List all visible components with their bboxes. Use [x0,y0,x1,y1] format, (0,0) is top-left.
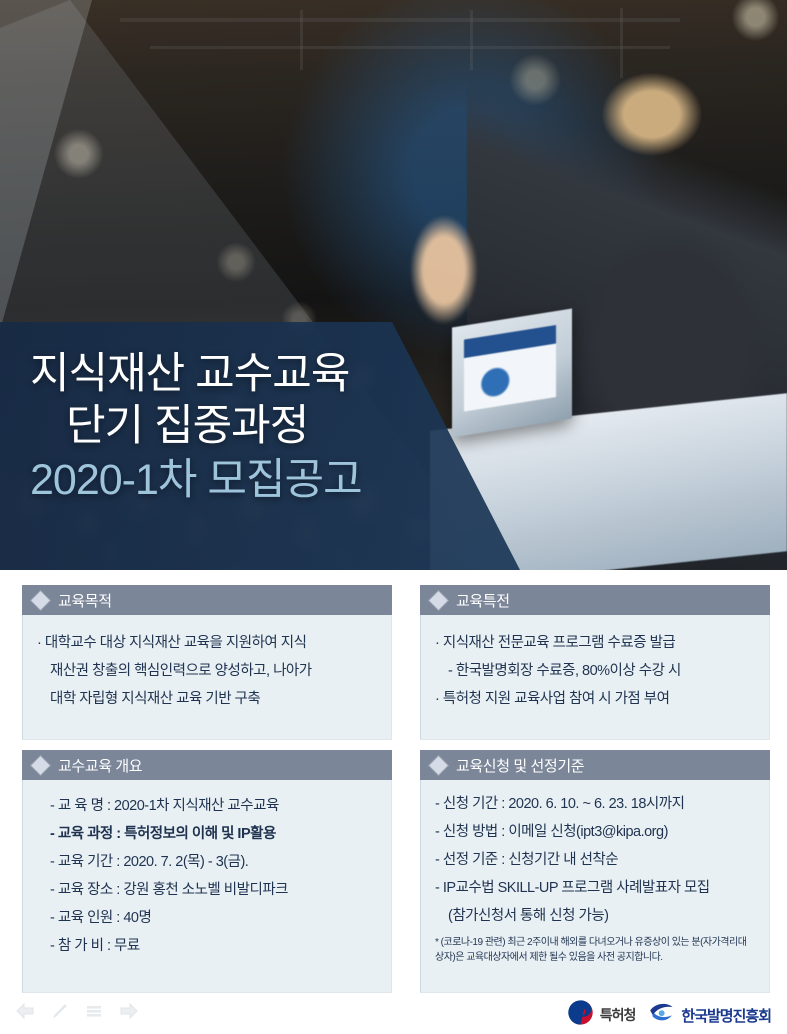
overview-period: - 교육 기간 : 2020. 7. 2(목) - 3(금). [37,850,377,875]
panel-purpose-line-2: 대학 자립형 지식재산 교육 기반 구축 [37,687,377,712]
panel-purpose-line-0: · 대학교수 대상 지식재산 교육을 지원하여 지식 [37,631,377,656]
poster-title: 지식재산 교수교육 단기 집중과정 2020-1차 모집공고 [30,348,550,506]
footer: 특허청 한국발명진흥회 [0,993,787,1034]
overview-course-track: - 교육 과정 : 특허정보의 이해 및 IP활용 [37,822,377,847]
panel-benefit-title: 교육특전 [456,590,510,611]
logo-kipo-label: 특허청 [600,1005,636,1025]
panel-apply-body: - 신청 기간 : 2020. 6. 10. ~ 6. 23. 18시까지 - … [420,780,770,993]
footer-nav-icons [14,1001,140,1021]
footer-logos: 특허청 한국발명진흥회 [567,999,771,1031]
panel-purpose-body: · 대학교수 대상 지식재산 교육을 지원하여 지식 재산권 창출의 핵심인력으… [22,615,392,740]
back-arrow-icon[interactable] [14,1001,36,1021]
panel-benefit-line-2: · 특허청 지원 교육사업 참여 시 가점 부여 [435,687,755,712]
raised-hand [398,195,490,345]
logo-kipa-label: 한국발명진흥회 [681,1005,771,1026]
kipa-swoosh-icon [647,999,675,1031]
apply-period: - 신청 기간 : 2020. 6. 10. ~ 6. 23. 18시까지 [435,792,755,817]
logo-kipo: 특허청 [567,999,636,1031]
apply-method: - 신청 방법 : 이메일 신청(ipt3@kipa.org) [435,820,755,845]
title-line-3: 2020-1차 모집공고 [30,454,550,506]
overview-course-name: - 교 육 명 : 2020-1차 지식재산 교수교육 [37,794,377,819]
panel-apply-header: 교육신청 및 선정기준 [420,750,770,780]
list-icon[interactable] [84,1002,104,1020]
panel-purpose-title: 교육목적 [58,590,112,611]
covid-notice: * (코로나-19 관련) 최근 2주이내 해외를 다녀오거나 유증상이 있는 … [435,935,755,965]
panel-benefit-line-1: - 한국발명회장 수료증, 80%이상 수강 시 [435,659,755,684]
poster-root: 지식재산 교수교육 단기 집중과정 2020-1차 모집공고 교육목적 · 대학… [0,0,787,1034]
apply-criteria: - 선정 기준 : 신청기간 내 선착순 [435,848,755,873]
taegeuk-icon [567,999,594,1031]
content-panels: 교육목적 · 대학교수 대상 지식재산 교육을 지원하여 지식 재산권 창출의 … [0,585,787,993]
panel-purpose: 교육목적 · 대학교수 대상 지식재산 교육을 지원하여 지식 재산권 창출의 … [22,585,392,740]
apply-skillup: - IP교수법 SKILL-UP 프로그램 사례발표자 모집 [435,876,755,901]
forward-arrow-icon[interactable] [118,1001,140,1021]
overview-capacity: - 교육 인원 : 40명 [37,906,377,931]
logo-kipa: 한국발명진흥회 [647,999,771,1031]
panel-benefit-body: · 지식재산 전문교육 프로그램 수료증 발급 - 한국발명회장 수료증, 80… [420,615,770,740]
diamond-bullet-icon [429,756,447,774]
diamond-bullet-icon [31,756,49,774]
panel-benefit-header: 교육특전 [420,585,770,615]
apply-skillup-sub: (참가신청서 통해 신청 가능) [435,904,755,929]
title-line-2: 단기 집중과정 [66,400,550,452]
panel-apply-title: 교육신청 및 선정기준 [456,755,584,776]
panel-overview-header: 교수교육 개요 [22,750,392,780]
overview-fee: - 참 가 비 : 무료 [37,934,377,959]
panel-benefit-line-0: · 지식재산 전문교육 프로그램 수료증 발급 [435,631,755,656]
panel-benefit: 교육특전 · 지식재산 전문교육 프로그램 수료증 발급 - 한국발명회장 수료… [420,585,770,740]
diamond-bullet-icon [31,591,49,609]
panel-apply: 교육신청 및 선정기준 - 신청 기간 : 2020. 6. 10. ~ 6. … [420,750,770,993]
pencil-icon[interactable] [50,1001,70,1021]
overview-location: - 교육 장소 : 강원 홍천 소노벨 비발디파크 [37,878,377,903]
panel-overview-body: - 교 육 명 : 2020-1차 지식재산 교수교육 - 교육 과정 : 특허… [22,780,392,993]
panel-overview: 교수교육 개요 - 교 육 명 : 2020-1차 지식재산 교수교육 - 교육… [22,750,392,993]
title-line-1: 지식재산 교수교육 [30,348,550,400]
diamond-bullet-icon [429,591,447,609]
panel-purpose-line-1: 재산권 창출의 핵심인력으로 양성하고, 나아가 [37,659,377,684]
panel-overview-title: 교수교육 개요 [58,755,142,776]
panel-purpose-header: 교육목적 [22,585,392,615]
